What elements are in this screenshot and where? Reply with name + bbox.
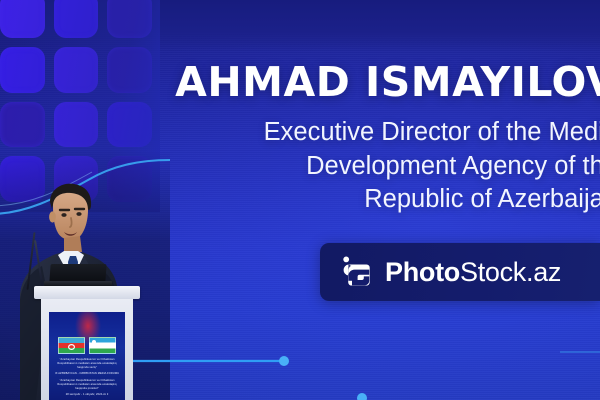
podium-top-surface <box>34 286 140 299</box>
speaker-face <box>53 193 88 240</box>
speaker-role-line-2: Development Agency of the <box>178 150 600 184</box>
photostock-brand-text: PhotoStock.az <box>385 257 561 288</box>
podium-caption: "Azərbaycan Respublikasının və Özbəkista… <box>54 358 120 397</box>
speaker-name: AHMAD ISMAYILOV <box>172 62 600 103</box>
podium-caption-line: IX AZƏRBAYCAN - ÖZBƏKISTAN MEDIA FORUMU <box>54 372 120 376</box>
podium-caption-line: 28 sentyabr - 1 oktyabr, 2024-cü il <box>54 393 120 397</box>
laptop-screen <box>49 264 106 282</box>
podium-flags <box>58 337 116 354</box>
uzbekistan-flag <box>89 337 116 354</box>
speaker-title-block: AHMAD ISMAYILOV Executive Director of th… <box>178 62 600 217</box>
speaker-role-line-1: Executive Director of the Media <box>178 116 600 150</box>
laptop <box>44 264 112 288</box>
podium: "Azərbaycan Respublikasının və Özbəkista… <box>34 286 140 400</box>
photostock-watermark-badge: PhotoStock.az <box>320 243 600 301</box>
podium-caption-line: Respublikasının mediaları arasında əməkd… <box>54 362 120 366</box>
podium-front-screen: "Azərbaycan Respublikasının və Özbəkista… <box>49 312 125 400</box>
photostock-s-mark-icon <box>338 255 372 289</box>
podium-caption-line: Respublikasının mediaları arasında əməkd… <box>54 383 120 387</box>
brand-light: Stock.az <box>460 257 561 287</box>
speaker-role: Executive Director of the Media Developm… <box>178 116 600 217</box>
speaker-role-line-3: Republic of Azerbaijan <box>178 183 600 217</box>
brand-bold: Photo <box>385 257 460 287</box>
azerbaijan-flag <box>58 337 85 354</box>
conference-stage-screenshot: AHMAD ISMAYILOV Executive Director of th… <box>0 0 600 400</box>
